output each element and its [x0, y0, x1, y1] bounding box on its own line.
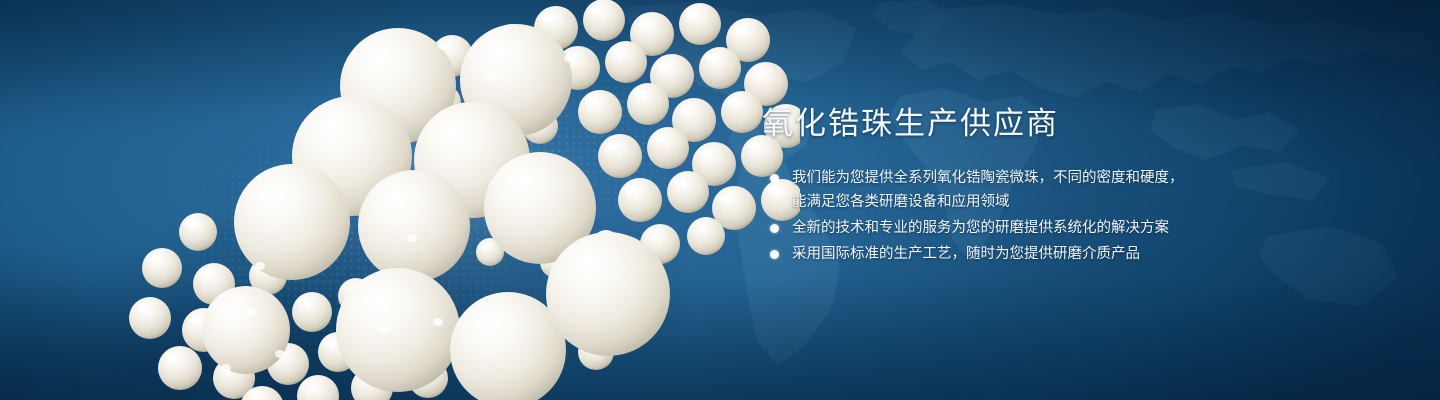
bullet-text-line2: 能满足您各类研磨设备和应用领域	[792, 190, 1322, 214]
bullet-text-line1: 采用国际标准的生产工艺，随时为您提供研磨介质产品	[792, 246, 1140, 262]
banner-copy: 氧化锆珠生产供应商 我们能为您提供全系列氧化锆陶瓷微珠，不同的密度和硬度， 能满…	[762, 104, 1322, 268]
bullet-text-line1: 全新的技术和专业的服务为您的研磨提供系统化的解决方案	[792, 220, 1169, 236]
list-item: 我们能为您提供全系列氧化锆陶瓷微珠，不同的密度和硬度， 能满足您各类研磨设备和应…	[762, 166, 1322, 214]
bullet-text-line1: 我们能为您提供全系列氧化锆陶瓷微珠，不同的密度和硬度，	[792, 170, 1184, 186]
bullet-dot-icon	[770, 174, 779, 183]
list-item: 采用国际标准的生产工艺，随时为您提供研磨介质产品	[762, 242, 1322, 266]
hero-banner: 氧化锆珠生产供应商 我们能为您提供全系列氧化锆陶瓷微珠，不同的密度和硬度， 能满…	[0, 0, 1440, 400]
list-item: 全新的技术和专业的服务为您的研磨提供系统化的解决方案	[762, 216, 1322, 240]
bullet-dot-icon	[770, 224, 779, 233]
page-title: 氧化锆珠生产供应商	[762, 104, 1322, 144]
bullet-dot-icon	[770, 250, 779, 259]
feature-bullet-list: 我们能为您提供全系列氧化锆陶瓷微珠，不同的密度和硬度， 能满足您各类研磨设备和应…	[762, 166, 1322, 266]
